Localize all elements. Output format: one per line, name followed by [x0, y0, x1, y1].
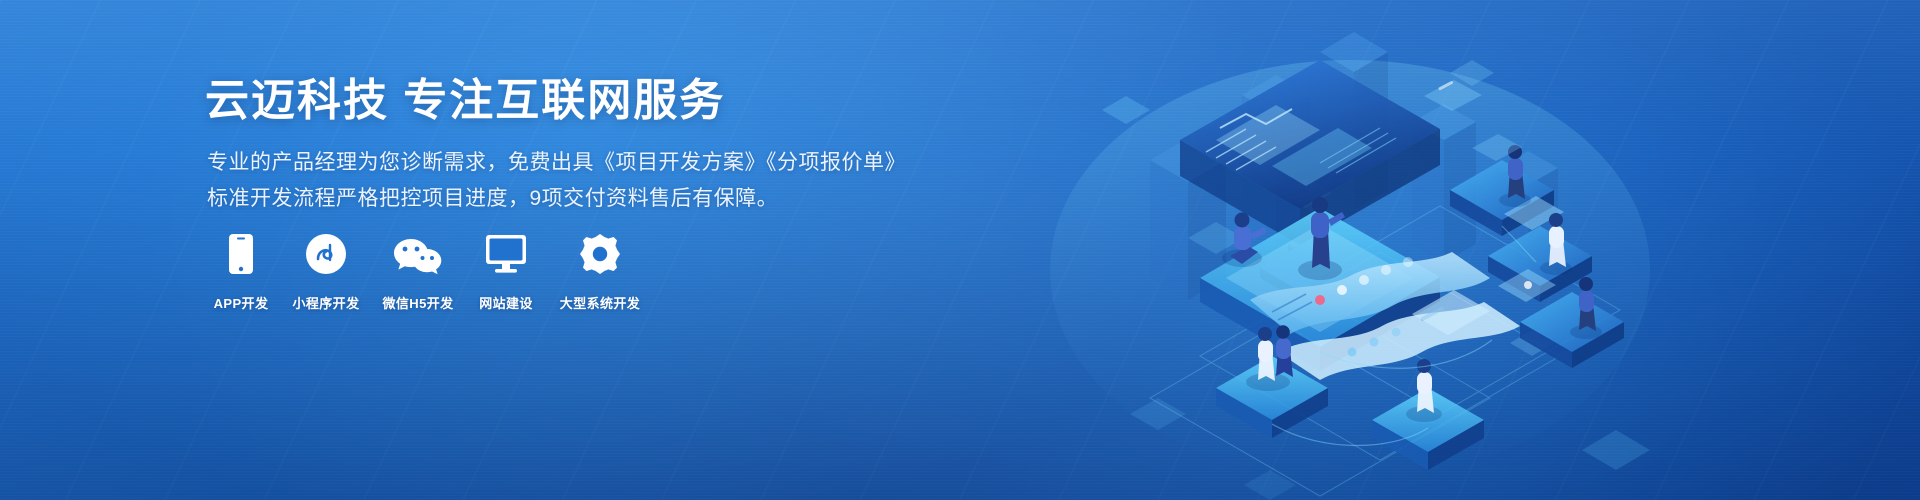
service-item-large-system[interactable]: 大型系统开发: [551, 232, 649, 312]
monitor-icon: [485, 232, 527, 276]
service-item-website[interactable]: 网站建设: [469, 232, 543, 312]
service-label-app: APP开发: [214, 293, 269, 312]
isometric-tech-illustration: [1020, 0, 1920, 500]
banner-subtitle-line-1: 专业的产品经理为您诊断需求，免费出具《项目开发方案》《分项报价单》: [207, 146, 906, 176]
service-label-wechat-h5: 微信H5开发: [382, 293, 453, 312]
service-item-mini-program[interactable]: 小程序开发: [285, 232, 367, 312]
wechat-icon: [393, 232, 443, 276]
mobile-phone-icon: [228, 232, 254, 276]
hero-banner: 云迈科技 专注互联网服务 专业的产品经理为您诊断需求，免费出具《项目开发方案》《…: [0, 0, 1920, 500]
page-title: 云迈科技 专注互联网服务: [205, 76, 725, 127]
banner-subtitle-line-2: 标准开发流程严格把控项目进度，9项交付资料售后有保障。: [207, 182, 778, 212]
banner-content: 云迈科技 专注互联网服务 专业的产品经理为您诊断需求，免费出具《项目开发方案》《…: [205, 0, 965, 500]
service-label-large-system: 大型系统开发: [560, 293, 640, 312]
mini-program-icon: [305, 232, 347, 276]
service-list: APP开发 小程序开发: [205, 232, 651, 312]
service-label-website: 网站建设: [479, 293, 533, 312]
service-label-mini-program: 小程序开发: [292, 293, 359, 312]
service-item-app[interactable]: APP开发: [205, 232, 277, 312]
service-item-wechat-h5[interactable]: 微信H5开发: [375, 232, 461, 312]
gear-icon: [579, 232, 621, 276]
